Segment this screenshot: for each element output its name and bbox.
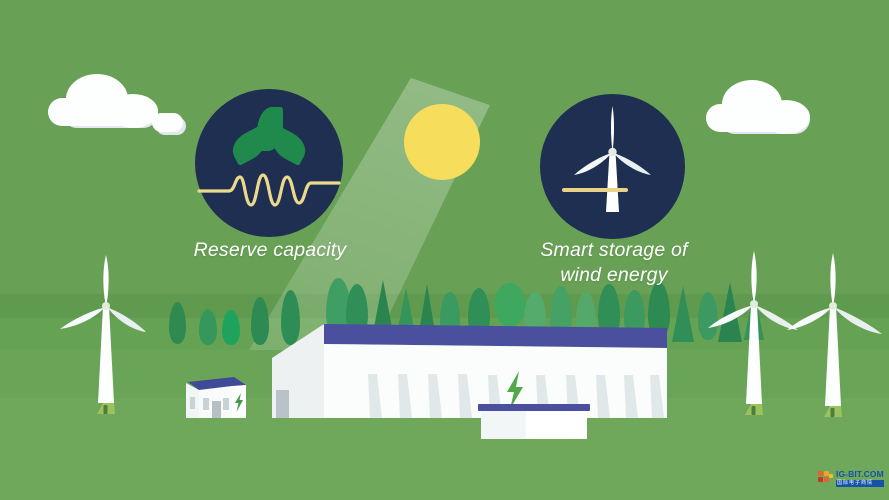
watermark-subtitle: 国际电子商情 xyxy=(836,480,884,487)
tree xyxy=(199,309,217,345)
tree xyxy=(222,310,240,345)
energy-bar-icon xyxy=(562,188,628,192)
icon-card-smart-storage[interactable] xyxy=(540,94,685,239)
watermark-logo-icon xyxy=(818,471,833,486)
energy-storage-facility xyxy=(272,314,672,424)
cloud-small-left xyxy=(152,113,186,135)
loading-dock xyxy=(478,404,590,440)
substation-house xyxy=(174,371,260,419)
cloud-large-left xyxy=(48,72,158,128)
wind-turbine-left xyxy=(58,253,154,423)
illustration-canvas: Reserve capacity Smart storage of wind e… xyxy=(0,0,889,500)
wind-turbine-icon xyxy=(540,94,685,239)
tree xyxy=(251,297,269,345)
cloud-right xyxy=(706,80,810,134)
conifer-tree xyxy=(672,286,694,342)
waveform-icon xyxy=(195,169,343,211)
ig-bit-watermark: IG-BIT.COM 国际电子商情 xyxy=(818,470,884,487)
tree xyxy=(169,302,186,344)
watermark-title: IG-BIT.COM xyxy=(836,470,884,479)
sun-icon xyxy=(404,104,480,180)
wind-turbine-right-b xyxy=(786,250,886,425)
icon-card-reserve-capacity[interactable] xyxy=(195,89,343,237)
label-reserve-capacity: Reserve capacity xyxy=(140,238,400,263)
